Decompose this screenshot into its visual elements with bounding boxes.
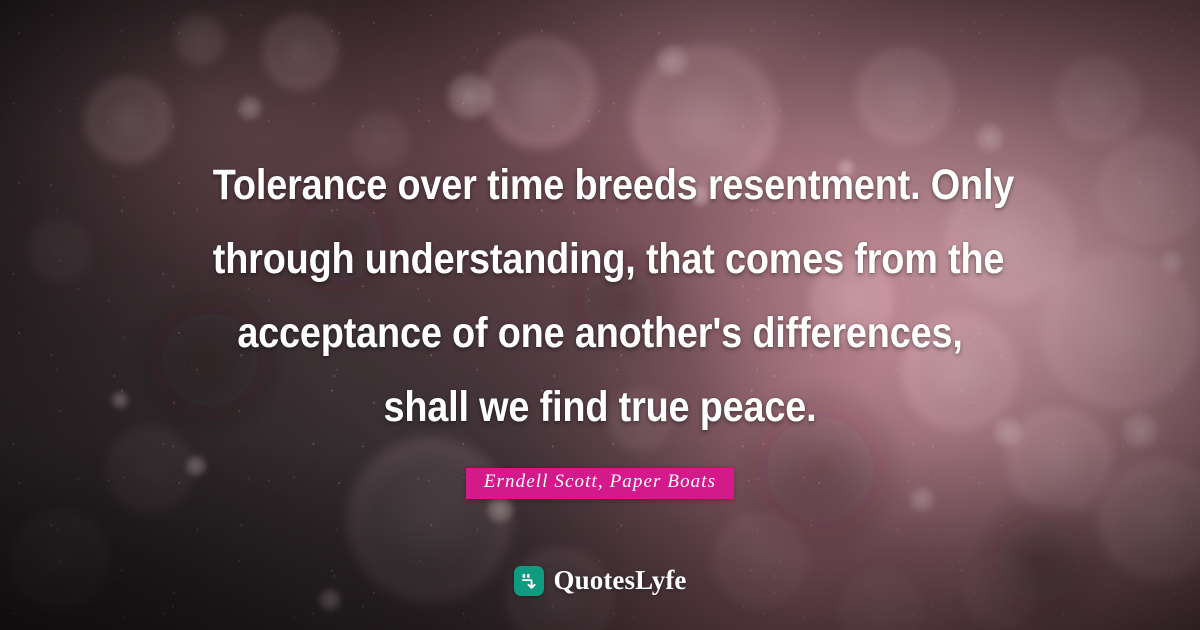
quote-text: Tolerance over time breeds resentment. O… (160, 148, 1040, 444)
quote-line: through understanding, that comes from t… (213, 222, 987, 296)
card-content: Tolerance over time breeds resentment. O… (0, 0, 1200, 630)
quote-line: Tolerance over time breeds resentment. O… (213, 148, 987, 222)
brand-name: QuotesLyfe (554, 565, 687, 596)
quote-line: acceptance of one another's differences, (213, 296, 987, 370)
quote-mark-icon (514, 566, 544, 596)
quote-line: shall we find true peace. (213, 370, 987, 444)
brand-logo[interactable]: QuotesLyfe (0, 565, 1200, 596)
attribution-badge: Erndell Scott, Paper Boats (466, 468, 734, 499)
attribution-row: Erndell Scott, Paper Boats (466, 468, 734, 499)
quote-card: Tolerance over time breeds resentment. O… (0, 0, 1200, 630)
